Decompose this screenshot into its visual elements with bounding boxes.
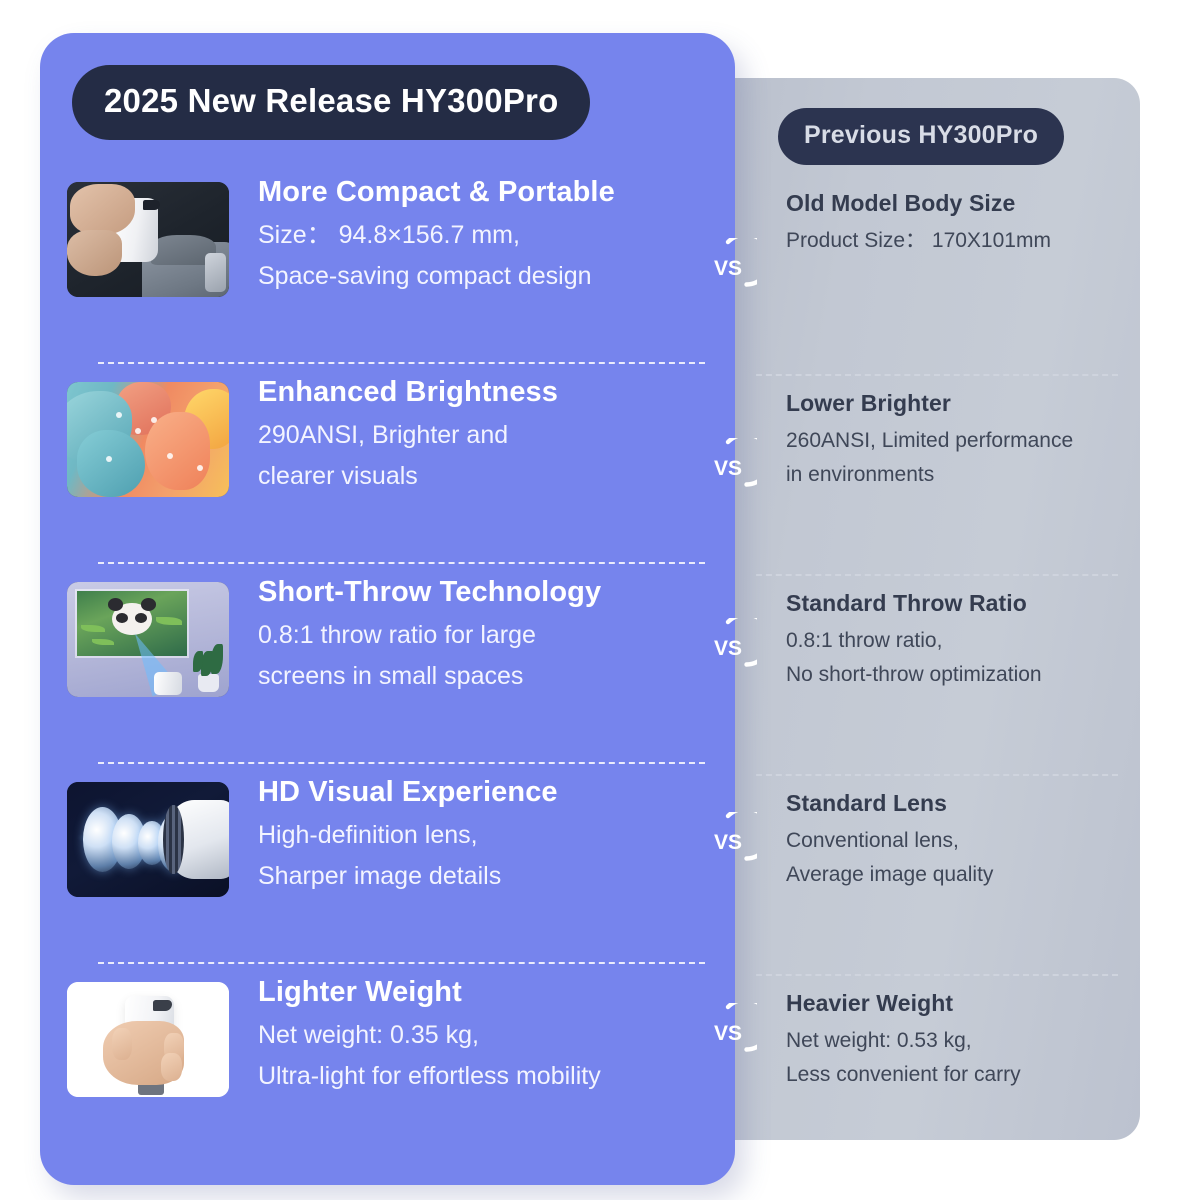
previous-row-line2: Less convenient for carry [786,1058,1122,1092]
new-model-rows: More Compact & Portable Size： 94.8×156.7… [40,164,735,1164]
vs-badge-1: VS [699,238,757,296]
new-row-line1: 0.8:1 throw ratio for large [258,615,727,656]
new-row-line2: screens in small spaces [258,656,727,697]
previous-model-rows: Old Model Body Size Product Size： 170X10… [700,176,1140,1176]
previous-row-weight: Heavier Weight Net weight: 0.53 kg, Less… [700,976,1140,1176]
svg-text:VS: VS [714,831,742,854]
previous-row-line1: Net weight: 0.53 kg, [786,1024,1122,1058]
projector-panda-projection-photo [67,582,229,697]
new-row-short-throw: Short-Throw Technology 0.8:1 throw ratio… [40,564,735,764]
vs-badge-2: VS [699,438,757,496]
vs-badge-4: VS [699,812,757,870]
previous-row-title: Old Model Body Size [786,190,1122,217]
previous-row-lens: Standard Lens Conventional lens, Average… [700,776,1140,976]
svg-text:VS: VS [714,457,742,480]
comparison-infographic: Previous HY300Pro Old Model Body Size Pr… [0,0,1200,1200]
new-row-compact: More Compact & Portable Size： 94.8×156.7… [40,164,735,364]
new-row-line1: Size： 94.8×156.7 mm, [258,215,727,256]
new-row-title: More Compact & Portable [258,176,727,209]
previous-row-line1: Product Size： 170X101mm [786,224,1122,258]
new-row-line1: Net weight: 0.35 kg, [258,1015,727,1056]
glossy-colorful-petals-photo [67,382,229,497]
previous-row-line2: in environments [786,458,1122,492]
new-row-line1: 290ANSI, Brighter and [258,415,727,456]
previous-row-line1: 260ANSI, Limited performance [786,424,1122,458]
new-row-brightness: Enhanced Brightness 290ANSI, Brighter an… [40,364,735,564]
new-row-title: Short-Throw Technology [258,576,727,609]
new-row-line2: clearer visuals [258,456,727,497]
exploded-lens-elements-photo [67,782,229,897]
previous-model-panel: Previous HY300Pro Old Model Body Size Pr… [700,78,1140,1140]
previous-row-throw-ratio: Standard Throw Ratio 0.8:1 throw ratio, … [700,576,1140,776]
previous-model-header: Previous HY300Pro [778,108,1064,165]
previous-row-body-size: Old Model Body Size Product Size： 170X10… [700,176,1140,376]
hand-holding-projector-photo [67,982,229,1097]
previous-row-line2: No short-throw optimization [786,658,1122,692]
new-row-line2: Ultra-light for effortless mobility [258,1056,727,1097]
previous-row-line2: Average image quality [786,858,1122,892]
new-row-title: Lighter Weight [258,976,727,1009]
previous-row-title: Heavier Weight [786,990,1122,1017]
new-row-lighter-weight: Lighter Weight Net weight: 0.35 kg, Ultr… [40,964,735,1164]
previous-row-title: Lower Brighter [786,390,1122,417]
previous-row-title: Standard Lens [786,790,1122,817]
new-row-line2: Space-saving compact design [258,256,727,297]
new-model-header: 2025 New Release HY300Pro [72,65,590,140]
new-row-line1: High-definition lens, [258,815,727,856]
previous-row-title: Standard Throw Ratio [786,590,1122,617]
svg-text:VS: VS [714,257,742,280]
svg-text:VS: VS [714,637,742,660]
previous-row-line1: Conventional lens, [786,824,1122,858]
new-model-panel: 2025 New Release HY300Pro More Compact &… [40,33,735,1185]
new-row-hd-visual: HD Visual Experience High-definition len… [40,764,735,964]
new-row-title: HD Visual Experience [258,776,727,809]
vs-badge-3: VS [699,618,757,676]
previous-row-line1: 0.8:1 throw ratio, [786,624,1122,658]
new-row-title: Enhanced Brightness [258,376,727,409]
new-row-line2: Sharper image details [258,856,727,897]
previous-row-brightness: Lower Brighter 260ANSI, Limited performa… [700,376,1140,576]
projector-into-backpack-photo [67,182,229,297]
svg-text:VS: VS [714,1022,742,1045]
vs-badge-5: VS [699,1003,757,1061]
